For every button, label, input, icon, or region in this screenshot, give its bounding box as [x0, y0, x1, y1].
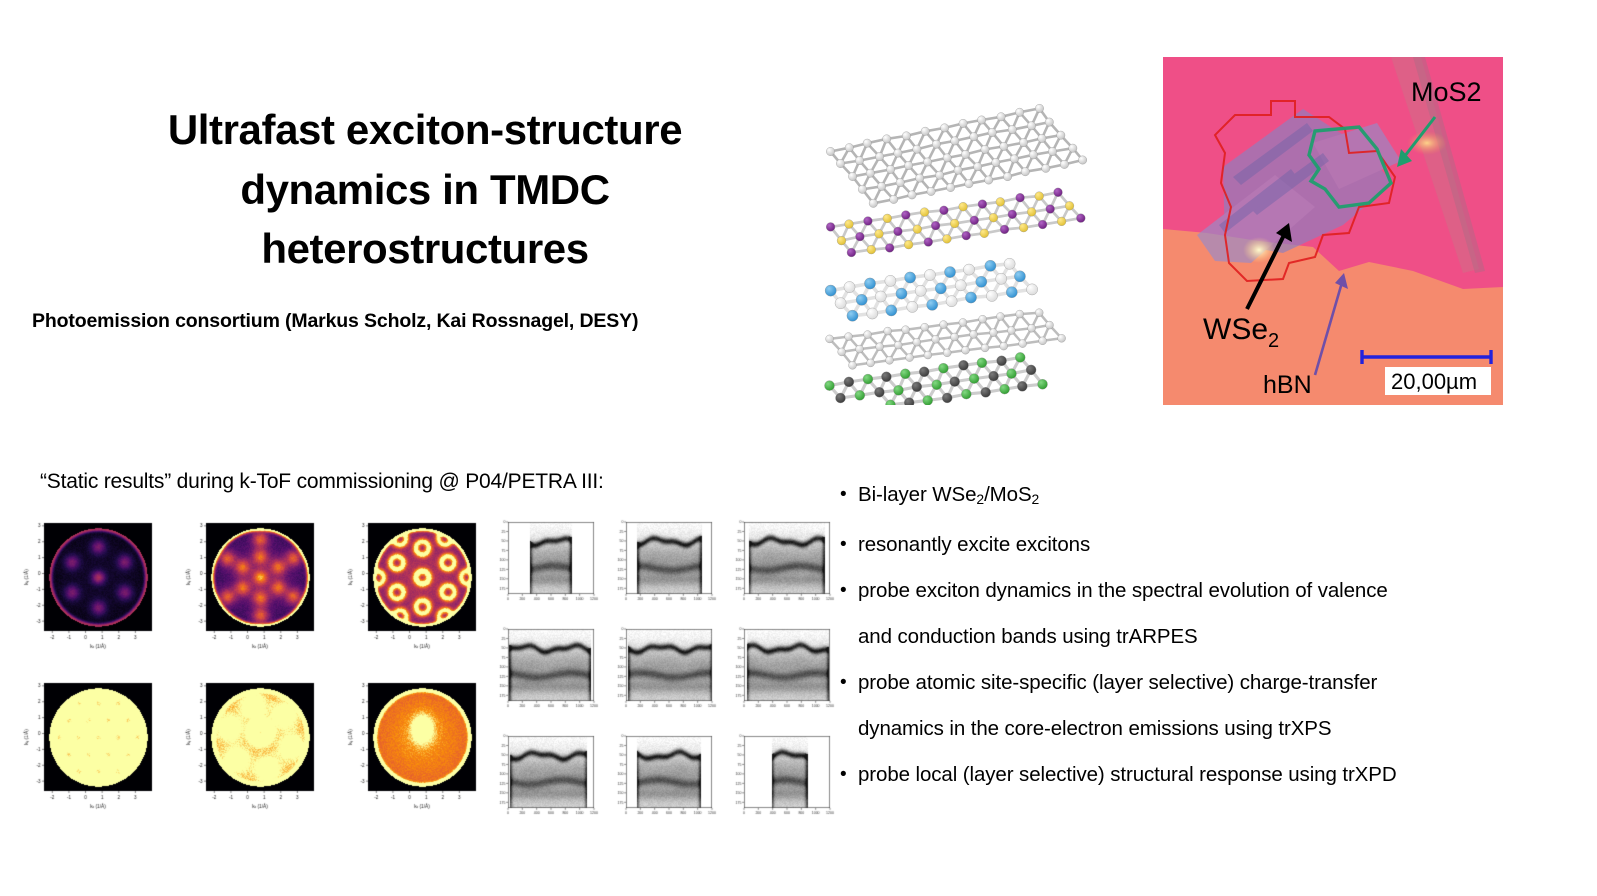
bullet-item-0: •Bi-layer WSe2/MoS2 — [840, 472, 1540, 522]
bullet-text: Bi-layer WSe2/MoS2 — [858, 472, 1039, 522]
momentum-map-6 — [338, 675, 486, 830]
xpd-spectrum-9 — [722, 726, 838, 837]
bullet-text: dynamics in the core-electron emissions … — [858, 706, 1331, 752]
subtitle-authors: Photoemission consortium (Markus Scholz,… — [32, 310, 792, 333]
scale-bar-label: 20,00µm — [1391, 369, 1477, 394]
momentum-map-5 — [176, 675, 324, 830]
heterostructure-diagram — [812, 55, 1104, 405]
page-title: Ultrafast exciton-structure dynamics in … — [60, 100, 790, 279]
glow-spot-right — [1407, 131, 1447, 155]
momentum-map-canvas — [176, 675, 324, 825]
bullet-item-3: •and conduction bands using trARPES — [840, 614, 1540, 660]
layer-tmdc-purple-yellow — [826, 188, 1085, 257]
momentum-map-3 — [338, 515, 486, 670]
xpd-spectrum-canvas — [604, 512, 720, 618]
xpd-spectrum-canvas — [486, 512, 602, 618]
mos2-label: MoS2 — [1411, 77, 1482, 107]
bullet-list: •Bi-layer WSe2/MoS2•resonantly excite ex… — [840, 472, 1540, 798]
bullet-text: and conduction bands using trARPES — [858, 614, 1198, 660]
layer-graphene-top — [826, 104, 1087, 207]
bullet-text: resonantly excite excitons — [858, 522, 1090, 568]
xpd-spectra-grid — [486, 512, 836, 834]
layer-tmdc-green-dark — [825, 352, 1048, 405]
hbn-label: hBN — [1263, 371, 1312, 399]
momentum-map-canvas — [338, 515, 486, 665]
bullet-marker: • — [840, 472, 858, 518]
momentum-map-4 — [14, 675, 162, 830]
xpd-spectrum-canvas — [604, 619, 720, 725]
static-results-caption: “Static results” during k-ToF commission… — [40, 470, 604, 494]
momentum-map-2 — [176, 515, 324, 670]
bullet-marker: • — [840, 752, 858, 798]
bullet-item-1: •resonantly excite excitons — [840, 522, 1540, 568]
layer-hbn-blue-white — [825, 258, 1038, 321]
xpd-spectrum-1 — [486, 512, 602, 623]
bullet-item-2: •probe exciton dynamics in the spectral … — [840, 568, 1540, 614]
title-block: Ultrafast exciton-structure dynamics in … — [60, 100, 790, 279]
momentum-map-1 — [14, 515, 162, 670]
xpd-spectrum-4 — [486, 619, 602, 730]
xpd-spectrum-8 — [604, 726, 720, 837]
xpd-spectrum-canvas — [486, 619, 602, 725]
title-line-2: dynamics in TMDC — [60, 160, 790, 220]
bullet-marker: • — [840, 568, 858, 614]
title-line-3: heterostructures — [60, 219, 790, 279]
xpd-spectrum-canvas — [722, 512, 838, 618]
bullet-text: probe exciton dynamics in the spectral e… — [858, 568, 1388, 614]
xpd-spectrum-7 — [486, 726, 602, 837]
xpd-spectrum-6 — [722, 619, 838, 730]
momentum-map-grid — [14, 515, 494, 835]
xpd-spectrum-canvas — [722, 619, 838, 725]
bullet-marker: • — [840, 522, 858, 568]
momentum-map-canvas — [14, 675, 162, 825]
layer-graphene-mid — [826, 309, 1066, 370]
momentum-map-canvas — [338, 675, 486, 825]
xpd-spectrum-canvas — [486, 726, 602, 832]
bullet-item-4: •probe atomic site-specific (layer selec… — [840, 660, 1540, 706]
xpd-spectrum-canvas — [604, 726, 720, 832]
bullet-item-5: •dynamics in the core-electron emissions… — [840, 706, 1540, 752]
bullet-text: probe local (layer selective) structural… — [858, 752, 1397, 798]
xpd-spectrum-5 — [604, 619, 720, 730]
xpd-spectrum-3 — [722, 512, 838, 623]
bullet-marker: • — [840, 660, 858, 706]
structure-layers — [825, 104, 1087, 405]
momentum-map-canvas — [176, 515, 324, 665]
bullet-text: probe atomic site-specific (layer select… — [858, 660, 1377, 706]
optical-micrograph: MoS2 WSe2 hBN 20,00µm — [1163, 57, 1503, 405]
xpd-spectrum-2 — [604, 512, 720, 623]
bullet-item-6: •probe local (layer selective) structura… — [840, 752, 1540, 798]
xpd-spectrum-canvas — [722, 726, 838, 832]
title-line-1: Ultrafast exciton-structure — [60, 100, 790, 160]
momentum-map-canvas — [14, 515, 162, 665]
